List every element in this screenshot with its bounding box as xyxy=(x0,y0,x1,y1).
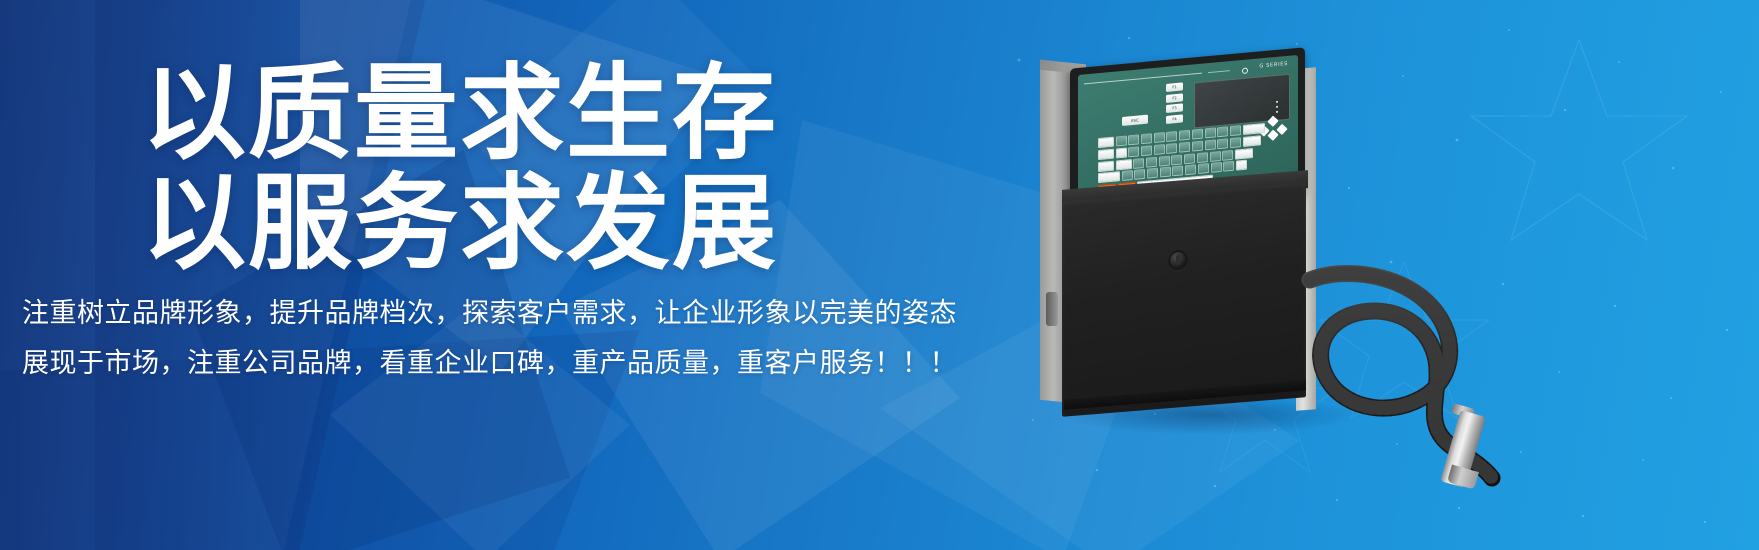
panel-rule xyxy=(1208,70,1230,73)
key-shift-right[interactable] xyxy=(1236,160,1247,171)
key-enter[interactable] xyxy=(1235,148,1253,160)
key[interactable] xyxy=(1184,153,1195,164)
subtext-line-1: 注重树立品牌形象，提升品牌档次，探索客户需求，让企业形象以完美的姿态 xyxy=(22,292,1002,336)
key[interactable] xyxy=(1211,162,1222,173)
key[interactable] xyxy=(1128,134,1139,145)
key[interactable] xyxy=(1217,138,1228,149)
key[interactable] xyxy=(1147,168,1158,179)
headline-line-1: 以质量求生存 xyxy=(142,60,1002,166)
key-f4[interactable]: F4 xyxy=(1166,114,1183,124)
key-esc[interactable] xyxy=(1098,137,1114,148)
key-f1[interactable]: F1 xyxy=(1166,82,1183,92)
key-caps[interactable] xyxy=(1098,148,1114,159)
key[interactable] xyxy=(1141,133,1152,144)
key[interactable] xyxy=(1197,152,1208,163)
key[interactable] xyxy=(1133,158,1144,169)
key[interactable] xyxy=(1141,145,1152,156)
promo-banner: 以质量求生存 以服务求发展 注重树立品牌形象，提升品牌档次，探索客户需求，让企业… xyxy=(0,0,1759,550)
key[interactable] xyxy=(1134,169,1145,180)
key-shift[interactable] xyxy=(1098,172,1120,184)
key-tab[interactable] xyxy=(1116,147,1127,158)
key[interactable] xyxy=(1230,125,1241,136)
key[interactable] xyxy=(1192,129,1203,140)
brand-logo-icon xyxy=(1242,67,1248,74)
key-escape[interactable]: ESC xyxy=(1122,115,1148,126)
key[interactable] xyxy=(1154,132,1165,143)
key[interactable] xyxy=(1171,154,1182,165)
key[interactable] xyxy=(1179,130,1190,141)
key[interactable] xyxy=(1166,131,1177,142)
brand-label: G SERIES xyxy=(1259,61,1288,70)
key[interactable] xyxy=(1205,139,1216,150)
key[interactable] xyxy=(1128,146,1139,157)
key-f3[interactable]: F3 xyxy=(1166,103,1183,113)
key[interactable] xyxy=(1185,165,1196,176)
panel-rule xyxy=(1084,73,1202,85)
key[interactable] xyxy=(1159,155,1170,166)
printer-umbilical-hose xyxy=(1270,220,1570,510)
subtext-line-2: 展现于市场，注重公司品牌，看重企业口碑，重产品质量，重客户服务！！！ xyxy=(22,342,1002,386)
key-delete[interactable] xyxy=(1243,135,1261,147)
panel-indicator-dots xyxy=(1276,101,1278,116)
product-image-inkjet-printer: G SERIES F1 F2 F3 F4 ESC xyxy=(1020,40,1580,510)
key[interactable] xyxy=(1122,170,1133,181)
key[interactable] xyxy=(1198,163,1209,174)
headline-line-2: 以服务求发展 xyxy=(142,170,1002,276)
key-f2[interactable]: F2 xyxy=(1166,93,1183,103)
banner-text-block: 以质量求生存 以服务求发展 注重树立品牌形象，提升品牌档次，探索客户需求，让企业… xyxy=(22,60,1002,386)
key[interactable] xyxy=(1217,126,1228,137)
key[interactable] xyxy=(1192,140,1203,151)
key[interactable] xyxy=(1116,136,1127,147)
key-backspace[interactable] xyxy=(1243,123,1265,135)
key[interactable] xyxy=(1166,143,1177,154)
key[interactable] xyxy=(1223,161,1234,172)
function-key-column: F1 F2 F3 F4 xyxy=(1166,82,1183,126)
key[interactable] xyxy=(1172,166,1183,177)
key[interactable] xyxy=(1205,127,1216,138)
key[interactable] xyxy=(1160,167,1171,178)
key-ctrl[interactable] xyxy=(1098,160,1114,171)
key[interactable] xyxy=(1146,156,1157,167)
key-alt[interactable] xyxy=(1116,159,1132,170)
key[interactable] xyxy=(1210,151,1221,162)
key[interactable] xyxy=(1230,137,1241,148)
printer-hinge xyxy=(1046,292,1058,326)
key[interactable] xyxy=(1179,142,1190,153)
key[interactable] xyxy=(1154,144,1165,155)
key[interactable] xyxy=(1222,149,1233,160)
